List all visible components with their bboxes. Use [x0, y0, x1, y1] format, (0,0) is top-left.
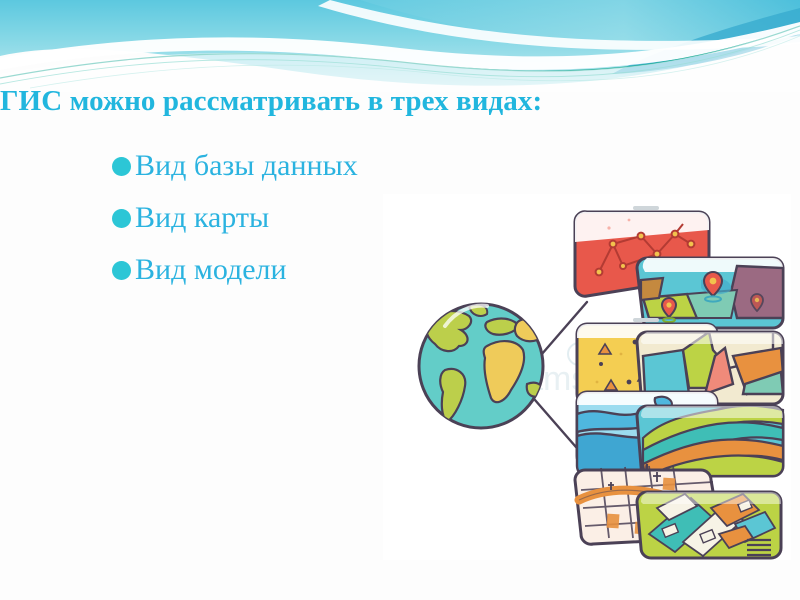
bullet-dot-icon: [112, 157, 131, 176]
gis-layers-illustration: dreamstime: [383, 194, 791, 560]
map-pin-icon: [662, 298, 676, 322]
bullet-dot-icon: [112, 261, 131, 280]
map-layer-pins: [637, 258, 783, 328]
map-pin-icon: [704, 272, 722, 302]
bullet-item-label: Вид карты: [135, 201, 269, 235]
bullet-dot-icon: [112, 209, 131, 228]
map-layer-contours: [637, 406, 783, 476]
bullet-item-label: Вид базы данных: [135, 149, 358, 183]
slide-root: ГИС можно рассматривать в трех видах: Ви…: [0, 0, 800, 600]
list-item: Вид базы данных: [112, 140, 442, 192]
page-title: ГИС можно рассматривать в трех видах:: [0, 84, 760, 118]
bullet-item-label: Вид модели: [135, 253, 287, 287]
earth-globe-icon: [419, 304, 547, 428]
header-wave-decoration: [0, 0, 800, 92]
map-layer-buildings: [637, 492, 781, 558]
